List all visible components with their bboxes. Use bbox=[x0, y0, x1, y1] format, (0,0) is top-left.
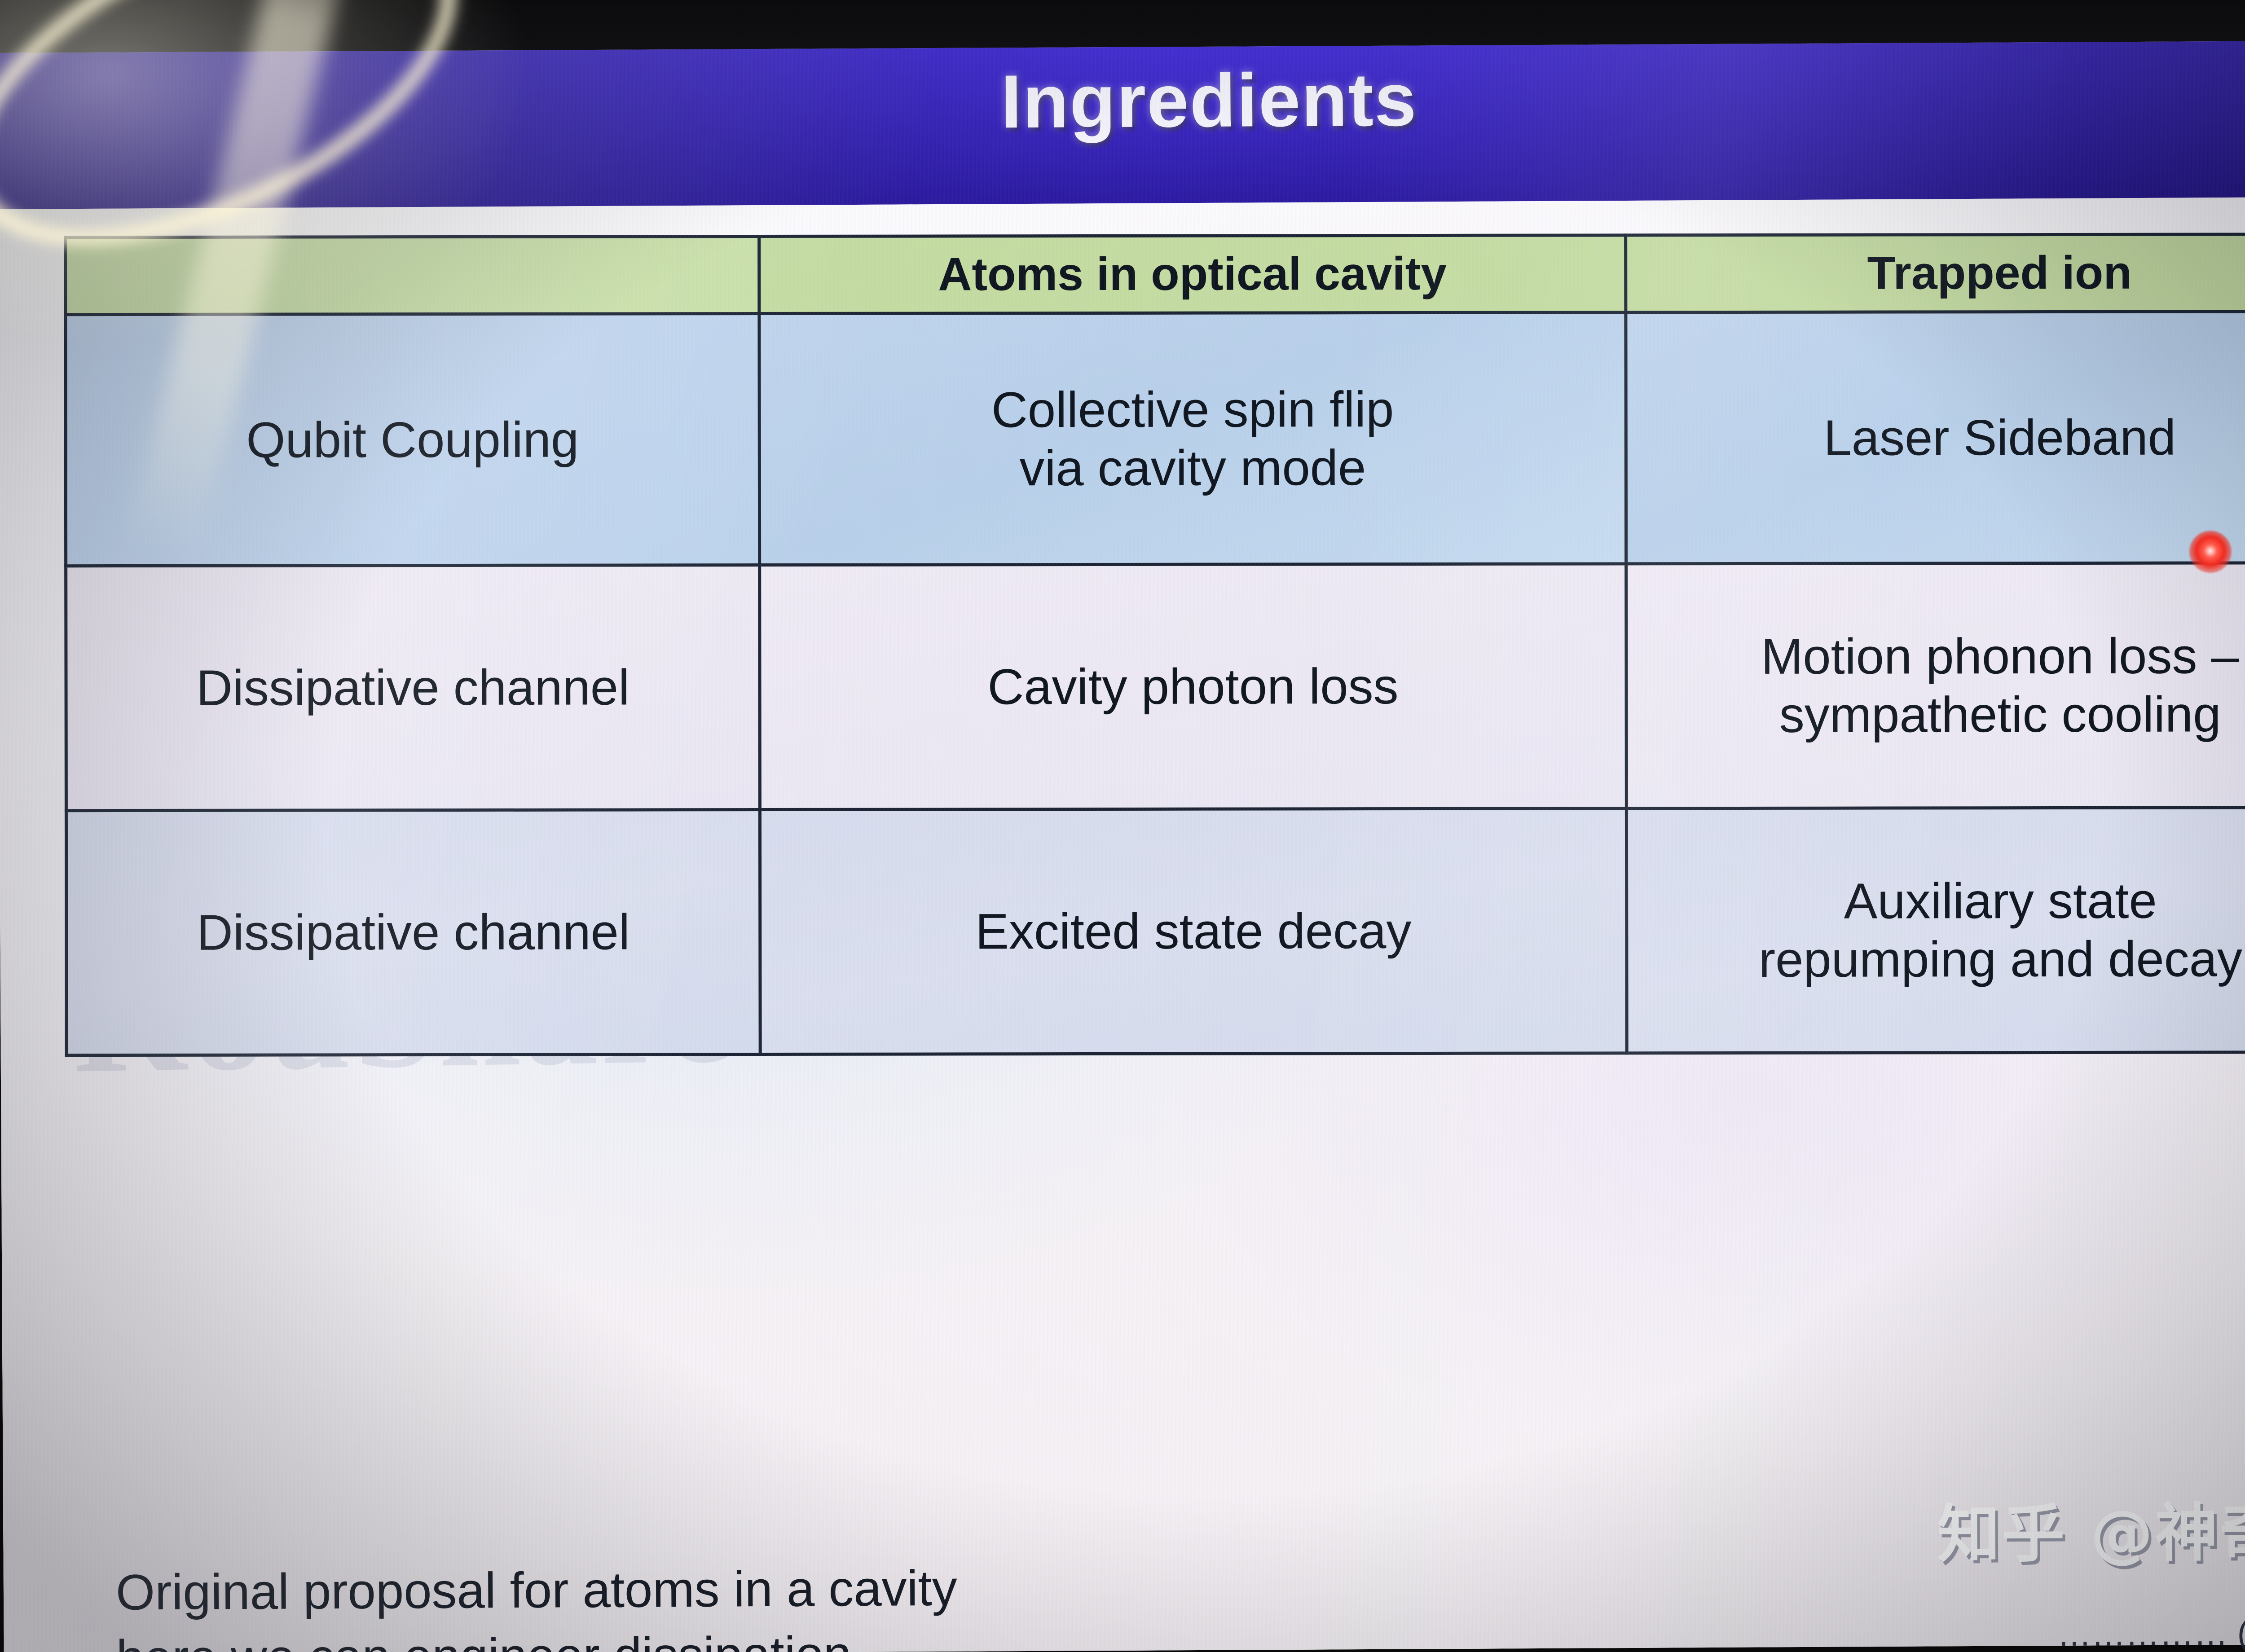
cell-line-1: Collective spin flip bbox=[774, 380, 1612, 439]
table-row: Qubit Coupling Collective spin flip via … bbox=[66, 312, 2245, 566]
cell-ion-dissipative-2: Auxiliary state repumping and decay bbox=[1626, 808, 2245, 1053]
cell-line-1: Auxiliary state bbox=[1641, 871, 2245, 931]
slide-body: 蔻享学术 KouShare Atoms in optical cavity Tr… bbox=[0, 197, 2245, 1652]
slide-title-band: Ingredients bbox=[0, 40, 2245, 209]
table-header-atoms-in-optical-cavity: Atoms in optical cavity bbox=[759, 235, 1626, 314]
table-row: Dissipative channel Excited state decay … bbox=[66, 808, 2245, 1055]
cell-line-2: via cavity mode bbox=[774, 438, 1612, 498]
table-header-blank bbox=[66, 237, 759, 315]
table-row: Dissipative channel Cavity photon loss M… bbox=[66, 563, 2245, 811]
comparison-table: Atoms in optical cavity Trapped ion Qubi… bbox=[64, 233, 2245, 1057]
caption-line-2: here we can engineer dissipation bbox=[116, 1626, 851, 1652]
slide-caption: Original proposal for atoms in a cavity … bbox=[116, 1555, 958, 1652]
projected-slide-photo: Ingredients 蔻享学术 KouShare Atoms in optic… bbox=[0, 0, 2245, 1652]
row-label-dissipative-channel-1: Dissipative channel bbox=[66, 565, 760, 811]
reference-citation: …………… (2013) bbox=[2057, 1613, 2245, 1652]
cell-line-2: repumping and decay bbox=[1641, 930, 2245, 989]
row-label-dissipative-channel-2: Dissipative channel bbox=[66, 810, 760, 1055]
table-header-trapped-ion: Trapped ion bbox=[1626, 234, 2245, 312]
caption-line-1: Original proposal for atoms in a cavity bbox=[116, 1560, 957, 1621]
cell-cavity-dissipative-1: Cavity photon loss bbox=[760, 564, 1627, 810]
page-title: Ingredients bbox=[0, 51, 2245, 150]
cell-cavity-qubit-coupling: Collective spin flip via cavity mode bbox=[759, 312, 1626, 565]
cell-line-2: sympathetic cooling bbox=[1641, 685, 2245, 744]
cell-line-1: Cavity photon loss bbox=[774, 657, 1612, 716]
cell-ion-qubit-coupling: Laser Sideband bbox=[1626, 312, 2245, 564]
cell-cavity-dissipative-2: Excited state decay bbox=[760, 808, 1627, 1054]
row-label-qubit-coupling: Qubit Coupling bbox=[66, 314, 760, 566]
cell-line-1: Excited state decay bbox=[774, 901, 1612, 961]
zhihu-watermark: 知乎 @神奇的 bbox=[1937, 1482, 2245, 1575]
presentation-slide: Ingredients 蔻享学术 KouShare Atoms in optic… bbox=[0, 40, 2245, 1652]
cell-line-1: Motion phonon loss – bbox=[1640, 627, 2245, 686]
cell-ion-dissipative-1: Motion phonon loss – sympathetic cooling bbox=[1626, 563, 2245, 808]
table-header-row: Atoms in optical cavity Trapped ion bbox=[66, 234, 2245, 315]
cell-line-1: Laser Sideband bbox=[1640, 408, 2245, 467]
